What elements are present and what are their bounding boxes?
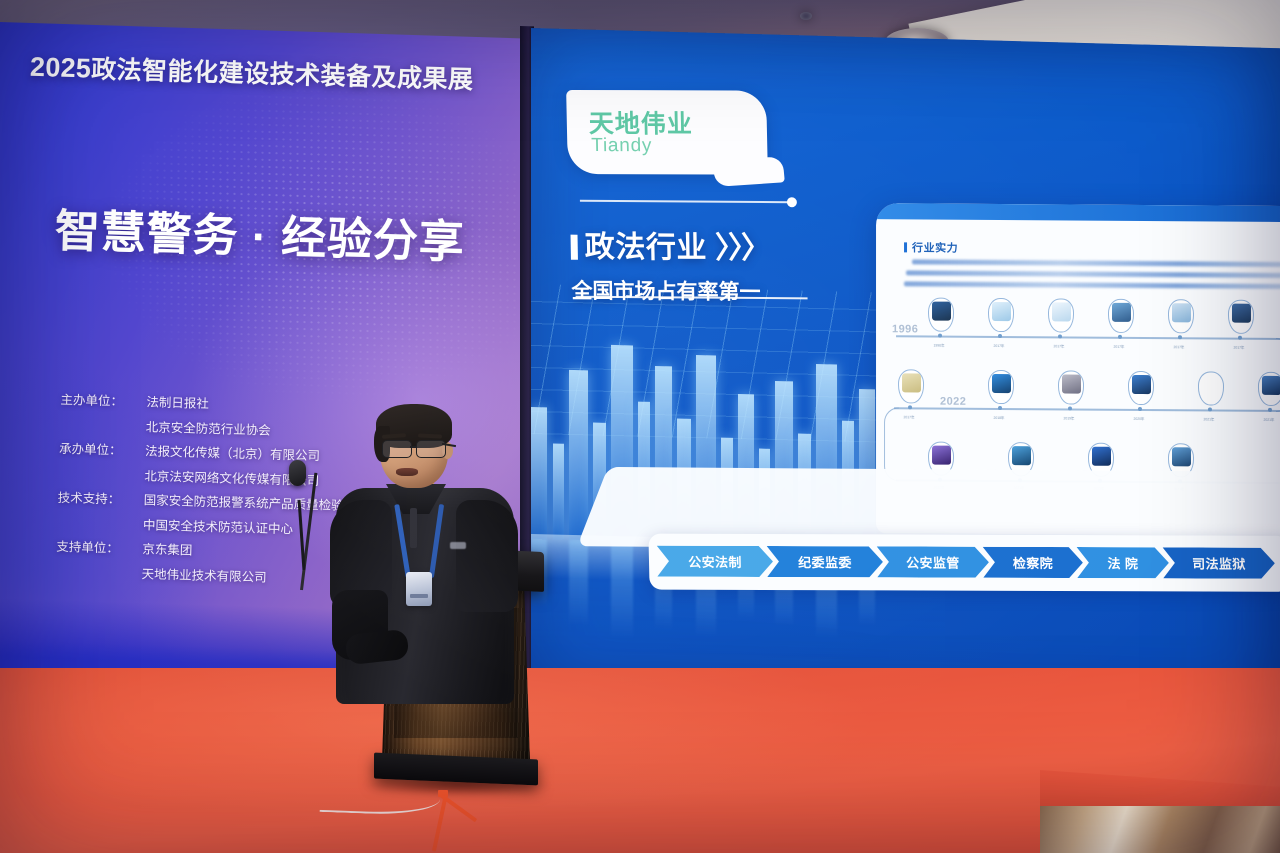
heading-bar-icon <box>571 235 578 260</box>
slide-heading: 政法行业〉〉〉 <box>570 222 769 267</box>
timeline-year-label: 1996 <box>892 323 918 335</box>
timeline-caption: 1996年 <box>916 343 962 348</box>
timeline-pin <box>898 369 924 403</box>
timeline-pin <box>1198 371 1224 405</box>
timeline-node <box>1118 335 1122 339</box>
slide-heading-text: 政法行业 <box>584 231 707 265</box>
timeline-pin <box>1128 371 1154 405</box>
timeline-node <box>1208 407 1212 411</box>
timeline-caption: 2017年 <box>1096 345 1142 350</box>
timeline-node <box>998 406 1002 410</box>
shirt-chest-logo <box>450 542 466 549</box>
credit-value: 京东集团 <box>142 542 192 557</box>
timeline-pin <box>988 298 1014 332</box>
timeline-pin <box>1108 299 1134 333</box>
tab-gongan-jianguan[interactable]: 公安监管 <box>877 546 990 577</box>
tab-jianchayuan[interactable]: 检察院 <box>983 547 1084 578</box>
ceiling-downlight-icon <box>800 12 812 20</box>
timeline-caption: 2021年 <box>1186 417 1232 422</box>
credit-value: 国家安全防范报警系统产品质量检验检 <box>143 493 356 513</box>
timeline-year-label: 2022 <box>940 396 966 408</box>
id-badge <box>406 572 432 606</box>
tab-sifa-jianyu[interactable]: 司法监狱 <box>1163 547 1276 578</box>
lanyard <box>330 404 520 704</box>
timeline-node <box>908 405 912 409</box>
timeline-pin <box>1168 299 1194 333</box>
slide-heading-group: 政法行业〉〉〉 全国市场占有率第一 <box>570 222 770 306</box>
timeline-node <box>1068 407 1072 411</box>
led-presentation-screen: 天地伟业 Tiandy 政法行业〉〉〉 全国市场占有率第一 行业实力 1996 <box>531 28 1280 708</box>
timeline-track <box>896 335 1280 339</box>
venue-tile-floor <box>1040 806 1280 853</box>
panel-top-bar <box>876 203 1280 222</box>
panel-body-text-line <box>904 281 1280 289</box>
timeline-pin <box>1228 300 1254 334</box>
timeline-node <box>1138 407 1142 411</box>
tab-fayuan[interactable]: 法 院 <box>1077 547 1170 578</box>
panel-body-text-line <box>906 270 1280 278</box>
timeline-caption: 2017年 <box>1036 344 1082 349</box>
tiandy-logo-card: 天地伟业 Tiandy <box>566 90 768 175</box>
credit-value: 法制日报社 <box>146 395 209 411</box>
slide-subheading: 全国市场占有率第一 <box>571 275 770 306</box>
timeline-caption: 2018年 <box>976 416 1022 421</box>
timeline-track <box>894 407 1280 411</box>
heading-rule <box>580 200 790 203</box>
timeline-caption: 2017年 <box>976 344 1022 349</box>
credit-value: 中国安全技术防范认证中心 <box>143 518 293 536</box>
credit-label: 支持单位： <box>56 535 143 562</box>
timeline-pin <box>928 298 954 332</box>
credit-label: 主办单位： <box>60 388 147 415</box>
credit-value: 天地伟业技术有限公司 <box>141 567 266 584</box>
timeline-caption: 2017年 <box>1216 346 1262 351</box>
timeline-node <box>938 334 942 338</box>
timeline-caption: 2020年 <box>1116 417 1162 422</box>
timeline-node <box>1268 408 1272 412</box>
credit-value: 北京安全防范行业协会 <box>146 420 271 437</box>
main-title: 智慧警务 · 经验分享 <box>54 194 466 270</box>
section-bar-icon <box>904 242 907 252</box>
floor-tape-marker <box>438 790 512 850</box>
panel-section-title-text: 行业实力 <box>912 242 958 254</box>
timeline-caption: 2017年 <box>1156 345 1202 350</box>
timeline-caption: 2021年 <box>1246 418 1280 423</box>
microphone-icon <box>289 460 306 486</box>
timeline-caption: 2019年 <box>1046 416 1092 421</box>
credit-label: 承办单位： <box>59 437 146 464</box>
conference-photo-scene: 2025政法智能化建设技术装备及成果展 智慧警务 · 经验分享 主办单位：法制日… <box>0 0 1280 853</box>
event-year: 2025 <box>30 52 92 84</box>
speaker-person <box>330 404 520 704</box>
tiandy-logo-en: Tiandy <box>591 135 652 157</box>
timeline-node <box>998 334 1002 338</box>
timeline-node <box>1058 334 1062 338</box>
panel-body-text-line <box>912 259 1280 267</box>
timeline-node <box>1178 335 1182 339</box>
credit-label: 技术支持： <box>57 486 144 513</box>
panel-section-title: 行业实力 <box>904 239 958 255</box>
timeline-pin <box>1258 372 1280 406</box>
timeline-pin <box>1048 298 1074 332</box>
timeline-node <box>1238 336 1242 340</box>
tab-jiwei-jianwei[interactable]: 纪委监委 <box>767 546 884 577</box>
tab-gongan-fazhi[interactable]: 公安法制 <box>657 546 774 577</box>
chevron-right-icon: 〉〉〉 <box>715 223 770 267</box>
timeline-pin <box>988 370 1014 404</box>
timeline-pin <box>1058 370 1084 404</box>
slide-tab-strip: 公安法制 纪委监委 公安监管 检察院 法 院 司法监狱 <box>648 534 1280 598</box>
